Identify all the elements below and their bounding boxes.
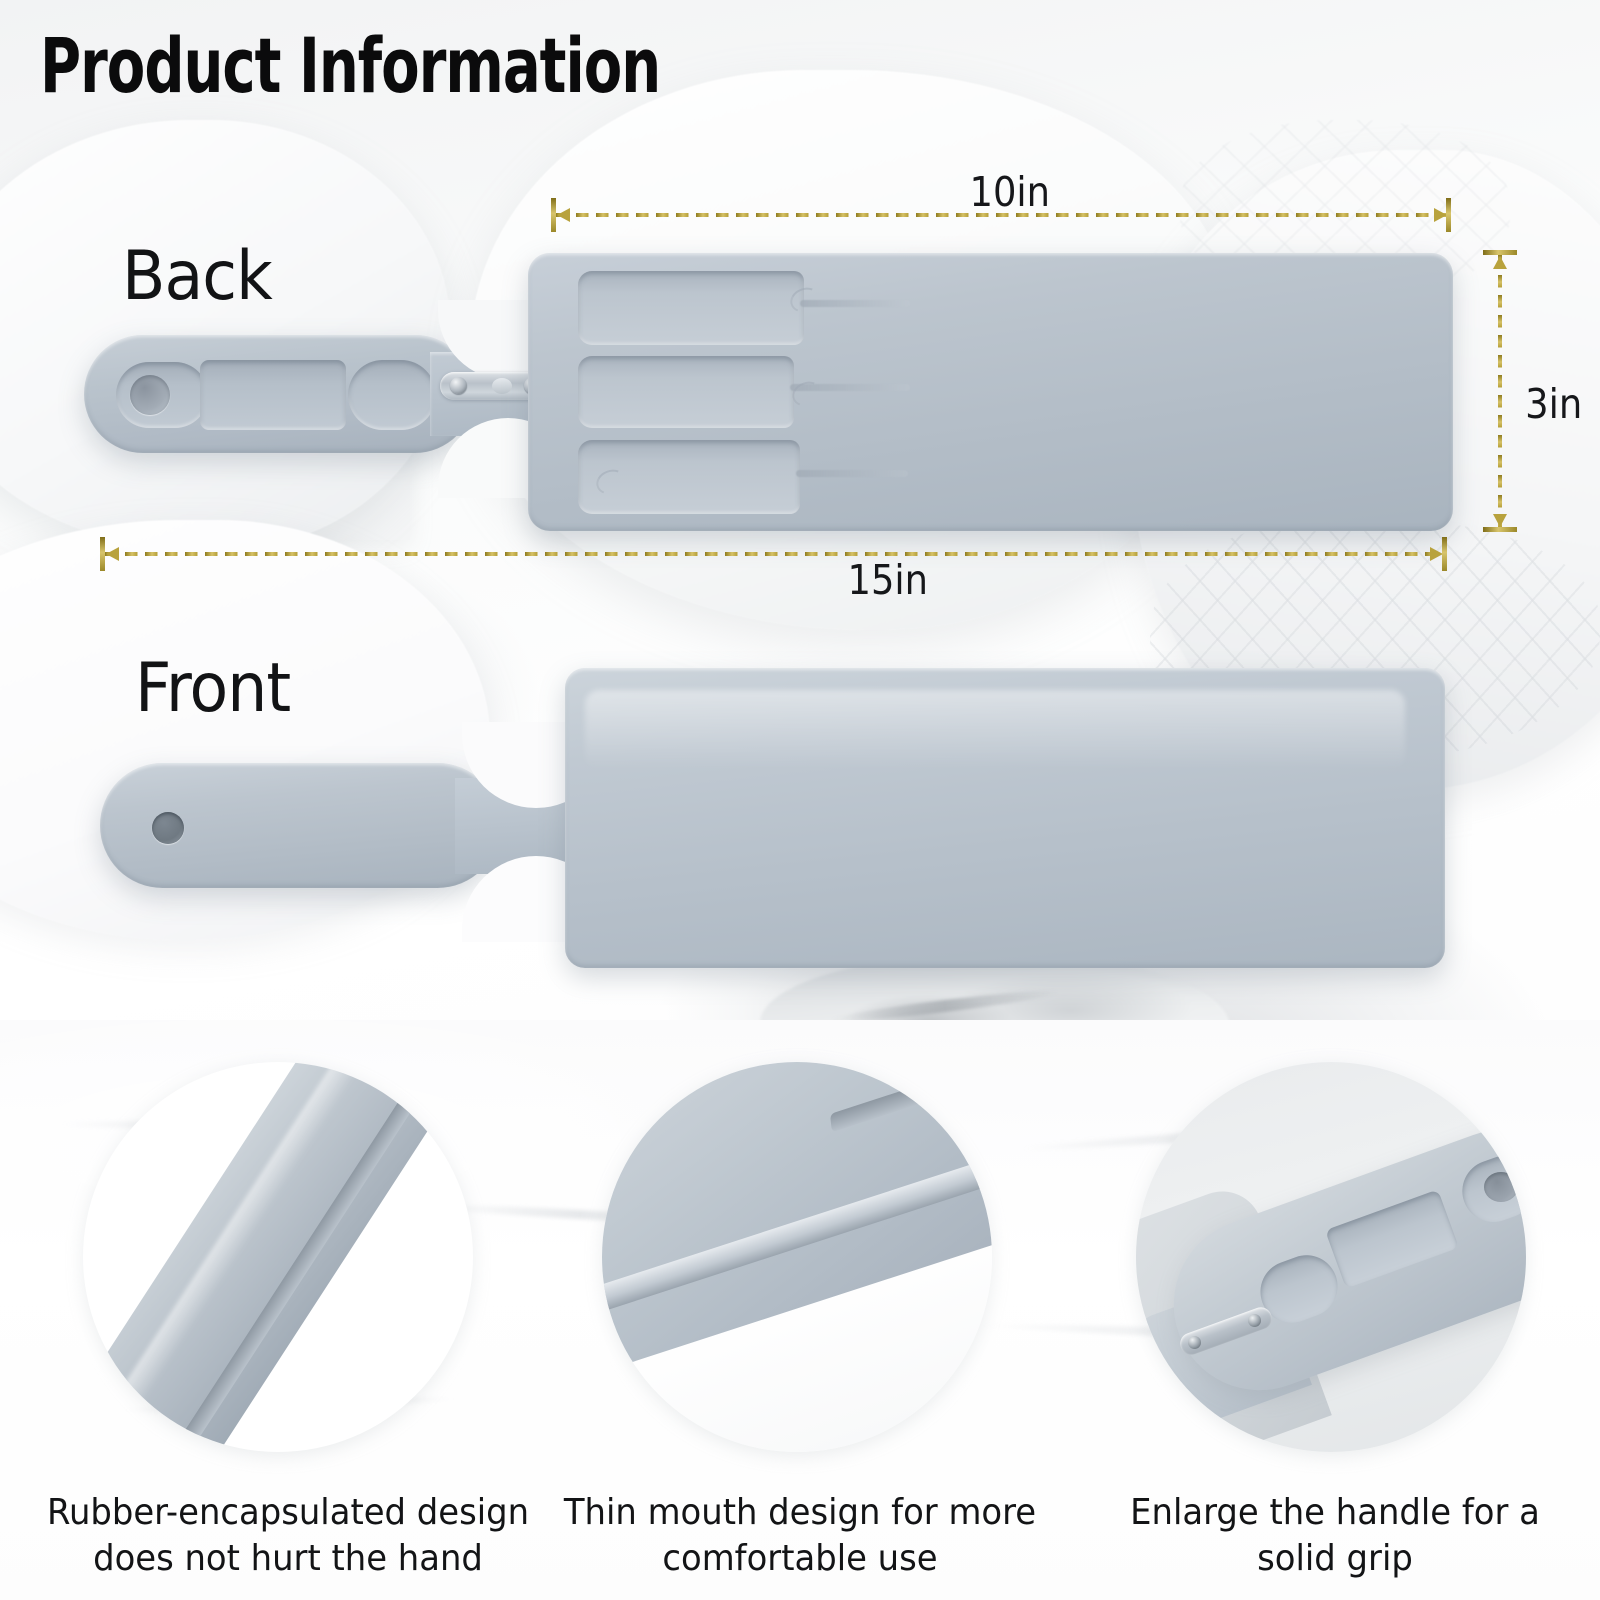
- front-hanging-hole: [152, 812, 184, 844]
- product-information-page: Product Information Back: [0, 0, 1600, 1600]
- caption-line-1: Enlarge the handle for a: [1095, 1490, 1574, 1536]
- front-view-group: Front: [0, 0, 1600, 1010]
- caption-line-2: solid grip: [1095, 1536, 1574, 1582]
- caption-line-2: comfortable use: [560, 1536, 1039, 1582]
- caption-line-2: does not hurt the hand: [34, 1536, 542, 1582]
- handle-rivet-a-closeup: [1188, 1336, 1201, 1349]
- caption-line-1: Thin mouth design for more: [560, 1490, 1039, 1536]
- handle-rivet-b-closeup: [1248, 1314, 1261, 1327]
- handle-hanging-hole-closeup: [1484, 1172, 1518, 1202]
- front-blade-highlight: [585, 690, 1405, 770]
- feature-photo-enlarged-handle: [1136, 1062, 1526, 1452]
- feature-caption-rubber-grip: Rubber-encapsulated design does not hurt…: [34, 1490, 542, 1582]
- feature-photo-rubber-grip: [83, 1062, 473, 1452]
- feature-photo-thin-mouth: [602, 1062, 992, 1452]
- blade-face-closeup: [602, 1062, 992, 1376]
- view-label-front: Front: [135, 655, 290, 723]
- caption-line-1: Rubber-encapsulated design: [34, 1490, 542, 1536]
- feature-caption-enlarged-handle: Enlarge the handle for a solid grip: [1095, 1490, 1574, 1582]
- feature-caption-thin-mouth: Thin mouth design for more comfortable u…: [560, 1490, 1039, 1582]
